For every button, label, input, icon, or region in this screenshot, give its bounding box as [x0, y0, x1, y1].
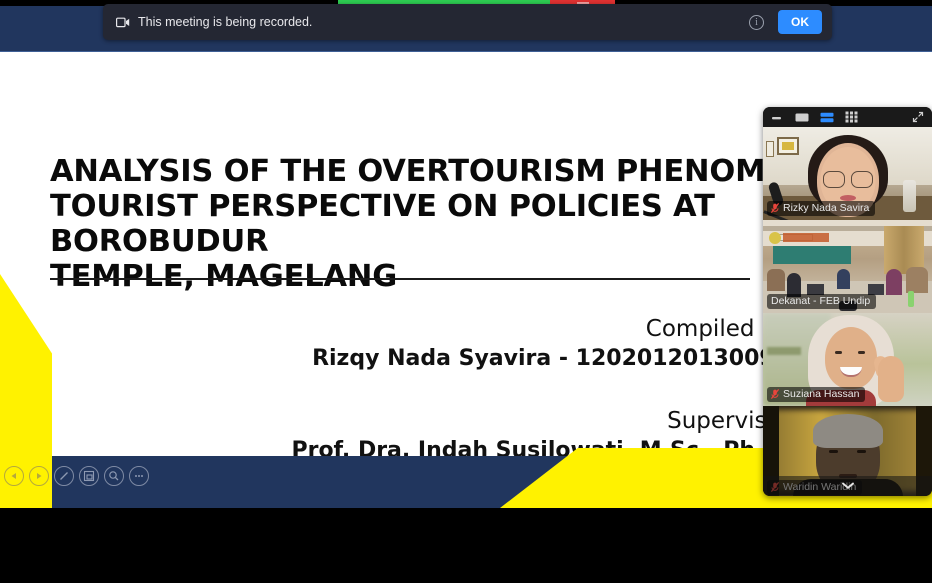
zoom-screen-share-window: ANALYSIS OF THE OVERTOURISM PHENOMENON: …: [0, 0, 932, 583]
participant-name: Suziana Hassan: [783, 388, 859, 400]
participant-name-badge: Suziana Hassan: [767, 387, 865, 402]
title-divider: [50, 278, 750, 280]
mic-muted-icon: [771, 389, 779, 399]
video-camera-icon: [116, 17, 130, 28]
speaker-view-icon[interactable]: [795, 112, 809, 123]
recording-notification-text: This meeting is being recorded.: [138, 15, 749, 29]
slide-credits: Compiled by Rizqy Nada Syavira - 1202012…: [50, 314, 790, 466]
presenter-toolbar: [4, 466, 149, 486]
video-filmstrip-panel: Rizky Nada Savira Dekanat - FEB Undip: [763, 107, 932, 496]
ok-button[interactable]: OK: [778, 10, 822, 34]
participant-name: Rizky Nada Savira: [783, 202, 869, 214]
zoom-button[interactable]: [104, 466, 124, 486]
strip-view-icon[interactable]: [820, 112, 834, 123]
participant-name-badge: Rizky Nada Savira: [767, 201, 875, 216]
participant-name-badge: Dekanat - FEB Undip: [767, 294, 876, 309]
video-tile[interactable]: Dekanat - FEB Undip: [763, 220, 932, 313]
recording-notification: This meeting is being recorded. i OK: [103, 4, 832, 40]
compiled-by-label: Compiled by: [50, 314, 790, 344]
bottom-letterbox: [0, 560, 932, 583]
participant-name: Dekanat - FEB Undip: [771, 295, 870, 307]
mic-muted-icon: [771, 203, 779, 213]
video-tile[interactable]: Suziana Hassan: [763, 313, 932, 406]
info-icon[interactable]: i: [749, 15, 764, 30]
chevron-down-icon: [841, 477, 855, 495]
video-tiles-list: Rizky Nada Savira Dekanat - FEB Undip: [763, 127, 932, 496]
more-options-button[interactable]: [129, 466, 149, 486]
supervisor-label: Supervisor: [50, 406, 790, 436]
scroll-down-button[interactable]: [763, 476, 932, 496]
minimize-icon[interactable]: [771, 112, 784, 122]
slide-layout-button[interactable]: [79, 466, 99, 486]
gallery-view-icon[interactable]: [845, 111, 859, 123]
compiled-by-name: Rizqy Nada Syavira - 12020120130091: [50, 344, 790, 374]
previous-slide-button[interactable]: [4, 466, 24, 486]
video-panel-controls: [763, 107, 932, 127]
expand-icon[interactable]: [912, 111, 924, 123]
next-slide-button[interactable]: [29, 466, 49, 486]
annotate-button[interactable]: [54, 466, 74, 486]
video-tile[interactable]: Rizky Nada Savira: [763, 127, 932, 220]
